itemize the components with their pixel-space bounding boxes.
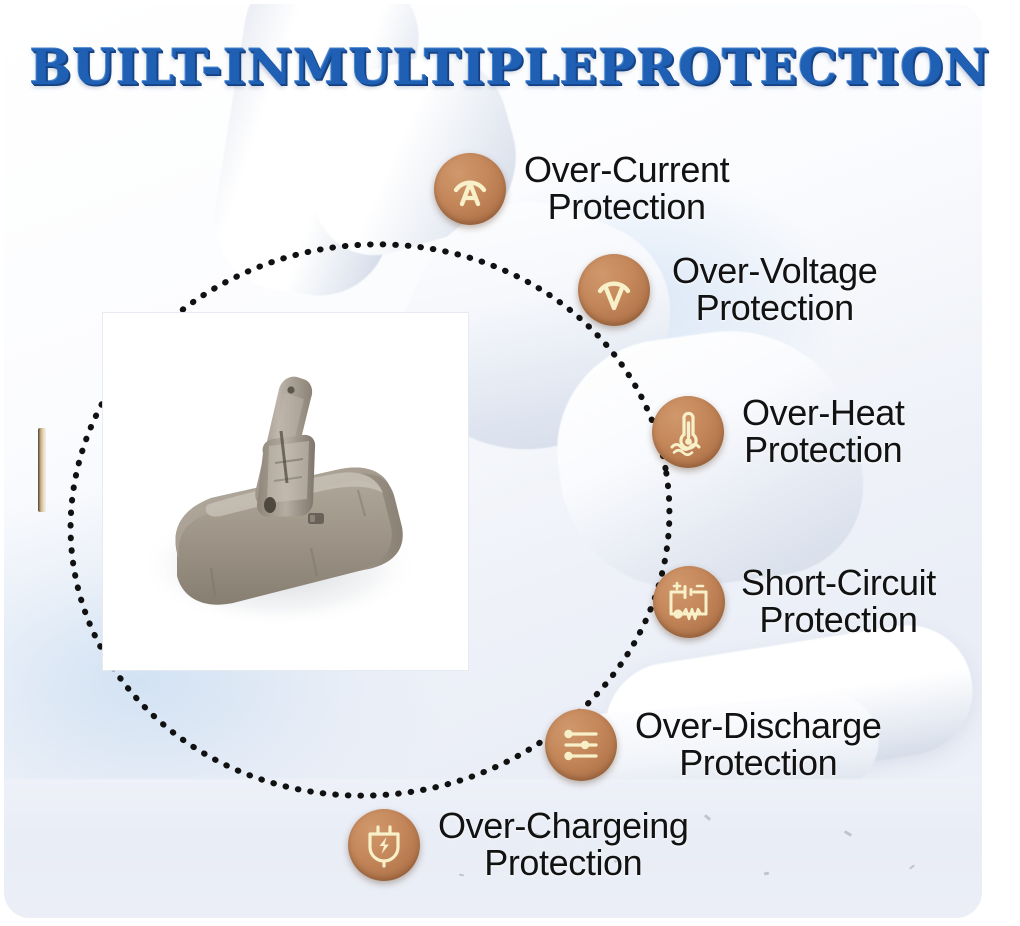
feature-label-line1: Over-Discharge: [635, 708, 881, 745]
feature-label-line1: Over-Current: [524, 152, 729, 189]
feature-label: Over-Current Protection: [524, 152, 729, 225]
feature-over-heat[interactable]: Over-Heat Protection: [652, 395, 904, 468]
feature-label-line2: Protection: [635, 745, 881, 782]
ammeter-a-icon: [434, 153, 506, 225]
feature-label-line1: Over-Chargeing: [438, 808, 689, 845]
feature-over-voltage[interactable]: Over-Voltage Protection: [578, 253, 877, 326]
feature-over-discharge[interactable]: Over-Discharge Protection: [545, 708, 881, 781]
feature-label-line1: Over-Heat: [742, 395, 904, 432]
infographic-canvas: BUILT-INMULTIPLEPROTECTION Over-Current …: [0, 0, 1020, 926]
plug-bolt-icon: [348, 809, 420, 881]
feature-over-current[interactable]: Over-Current Protection: [434, 152, 729, 225]
product-image-card: [103, 313, 468, 670]
feature-label-line1: Short-Circuit: [741, 565, 936, 602]
feature-short-circuit[interactable]: Short-Circuit Protection: [653, 565, 936, 638]
feature-label-line1: Over-Voltage: [672, 253, 877, 290]
debris-speck: [844, 830, 852, 837]
debris-speck: [764, 872, 769, 876]
tan-edge-sliver: [38, 428, 46, 512]
feature-over-charging[interactable]: Over-Chargeing Protection: [348, 808, 689, 881]
thermometer-heat-icon: [652, 396, 724, 468]
page-title: BUILT-INMULTIPLEPROTECTION: [0, 38, 1020, 96]
feature-label-line2: Protection: [742, 432, 904, 469]
feature-label: Over-Voltage Protection: [672, 253, 877, 326]
feature-label: Over-Discharge Protection: [635, 708, 881, 781]
feature-label-line2: Protection: [438, 845, 689, 882]
feature-label: Over-Heat Protection: [742, 395, 904, 468]
feature-label: Short-Circuit Protection: [741, 565, 936, 638]
circuit-battery-icon: [653, 566, 725, 638]
sliders-icon: [545, 709, 617, 781]
feature-label-line2: Protection: [672, 290, 877, 327]
feature-label: Over-Chargeing Protection: [438, 808, 689, 881]
feature-label-line2: Protection: [524, 189, 729, 226]
debris-speck: [909, 864, 915, 869]
debris-speck: [704, 814, 711, 821]
battery-product-image: [103, 313, 468, 670]
voltmeter-v-icon: [578, 254, 650, 326]
feature-label-line2: Protection: [741, 602, 936, 639]
